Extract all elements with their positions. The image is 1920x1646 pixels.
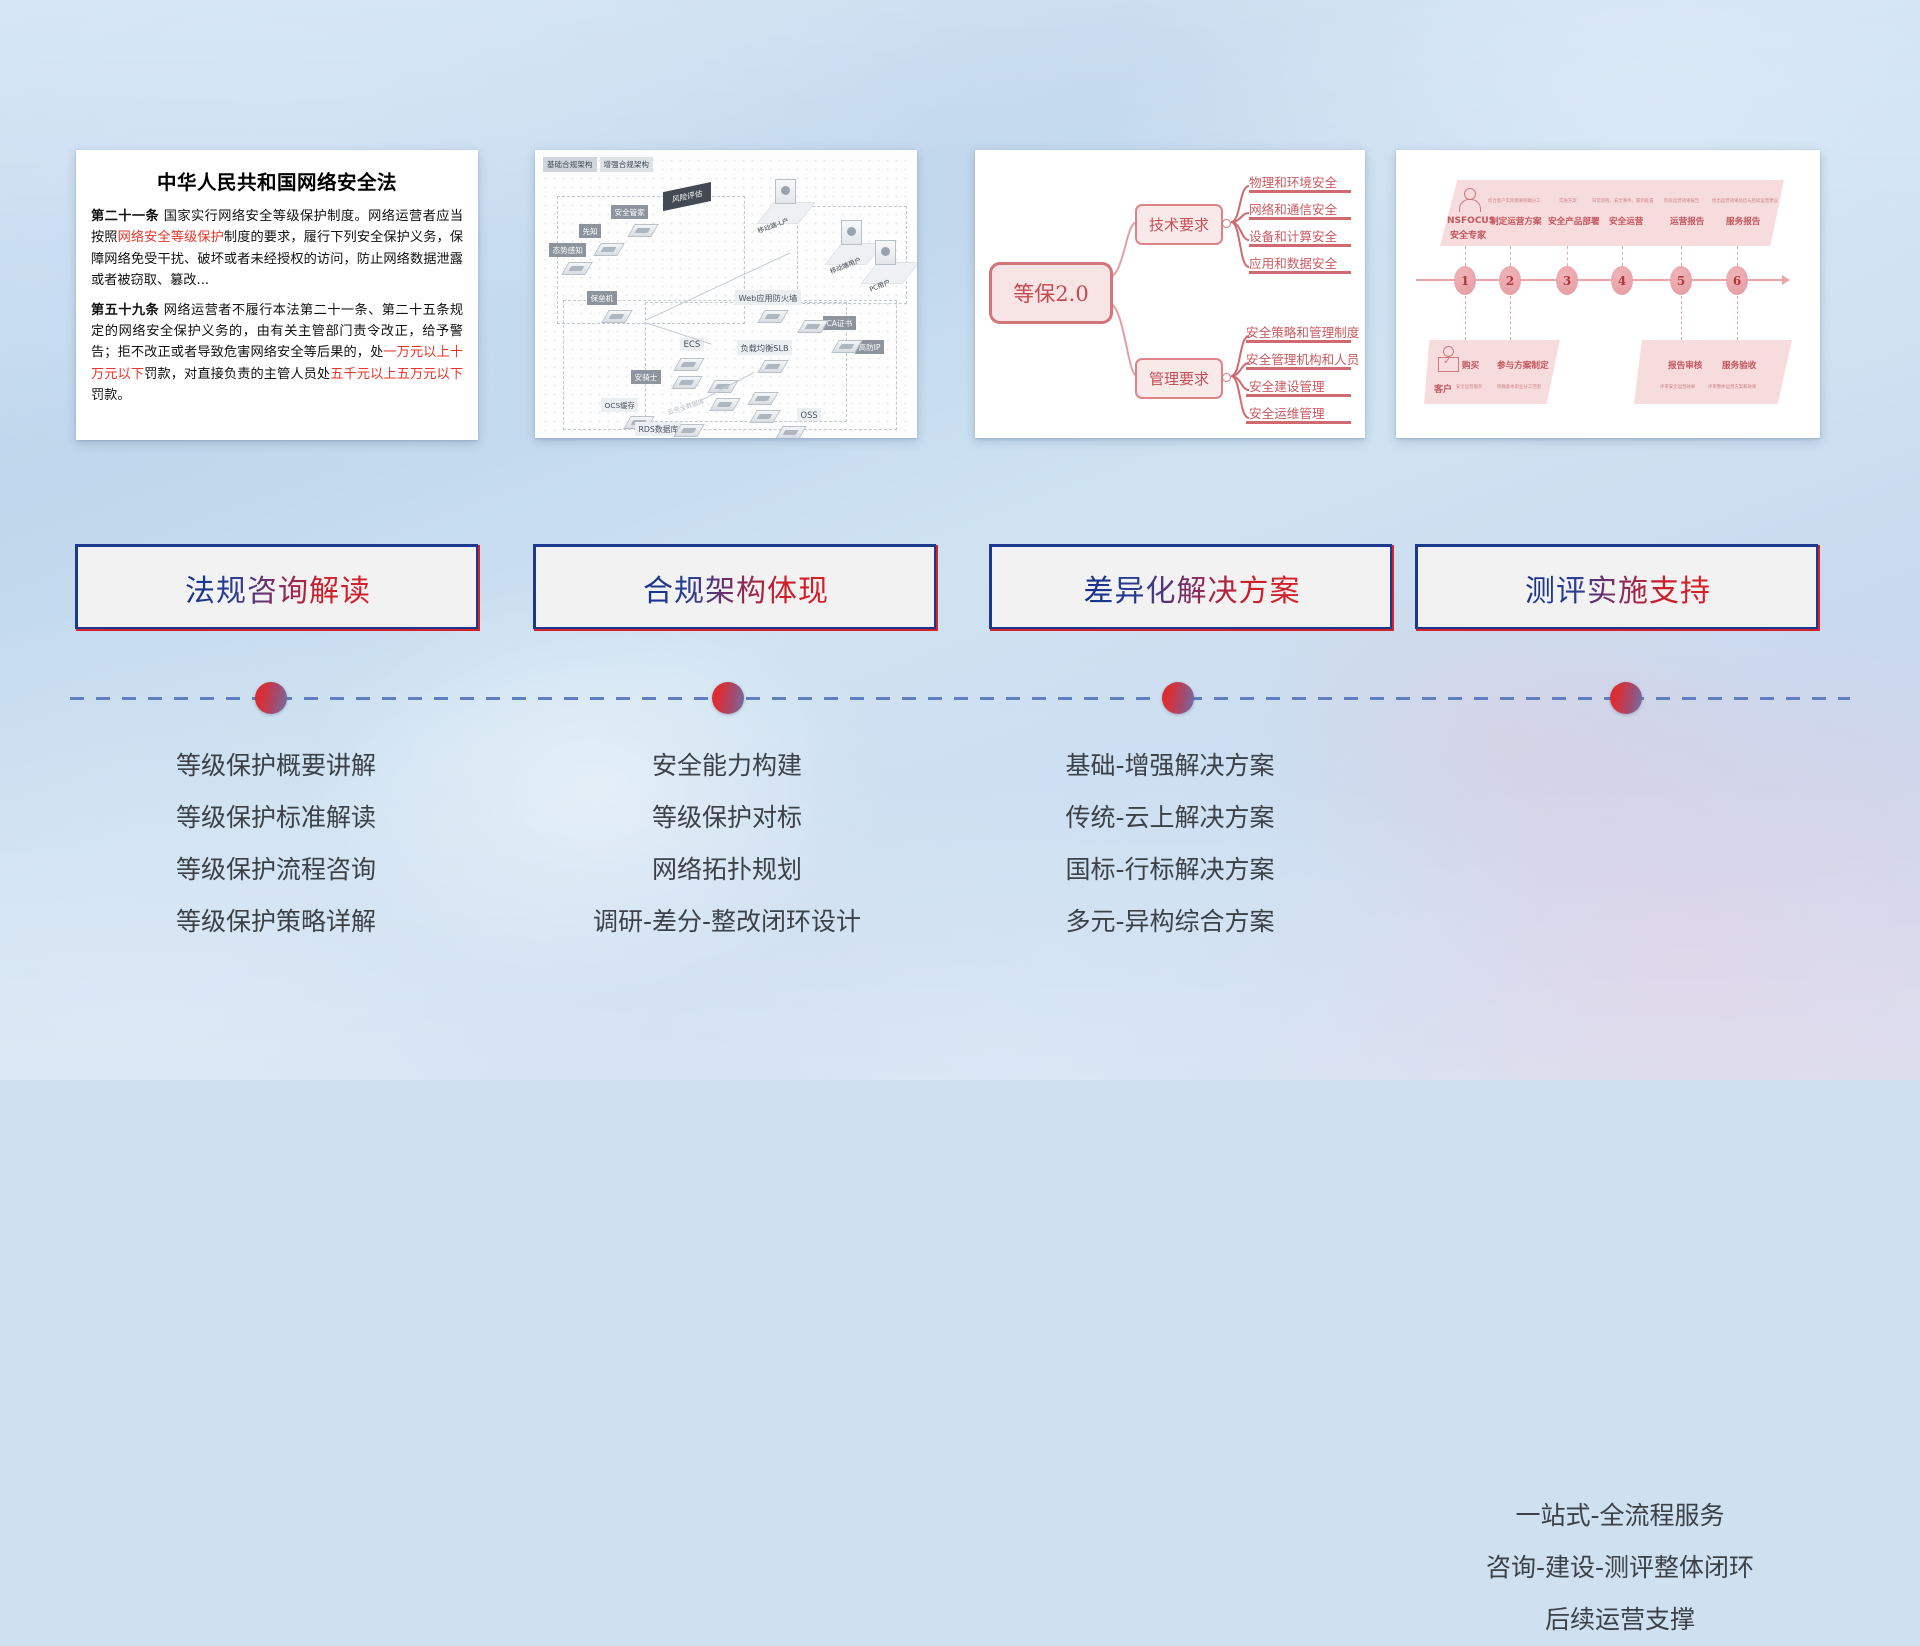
node-security-guanjia-icon xyxy=(631,220,653,236)
roadmap-expert-role: 安全专家 xyxy=(1450,228,1486,241)
roadmap-bottom-title-3: 报告审核 xyxy=(1668,359,1702,371)
pill-label-1: 法规咨询解读 xyxy=(185,566,371,610)
roadmap-diagram: NSFOCUS 安全专家 结合客户实际需要明确分工 制定运营方案 实施方案 安全… xyxy=(1396,150,1820,438)
pill-button-differentiated-solution[interactable]: 差异化解决方案 xyxy=(990,545,1394,631)
feature-column-3: 基础-增强解决方案 传统-云上解决方案 国标-行标解决方案 多元-异构综合方案 xyxy=(960,740,1380,948)
mindmap-underline-m1 xyxy=(1246,340,1351,343)
feature-item: 基础-增强解决方案 xyxy=(960,740,1380,792)
mindmap-branch-technical[interactable]: 技术要求 xyxy=(1135,204,1223,245)
roadmap-tick-b1 xyxy=(1465,296,1467,340)
mindmap-underline-t2 xyxy=(1249,217,1351,220)
roadmap-top-sub-3: 日常巡检、安全事件、漏洞处置 xyxy=(1592,198,1653,204)
nsfocus-person-icon xyxy=(1456,188,1482,214)
roadmap-tick-b4 xyxy=(1737,296,1739,340)
feature-item: 调研-差分-整改闭环设计 xyxy=(512,896,942,948)
roadmap-tick-b3 xyxy=(1681,296,1683,340)
mindmap-underline-t4 xyxy=(1249,271,1351,274)
law-document: 中华人民共和国网络安全法 第二十一条 国家实行网络安全等级保护制度。网络运营者应… xyxy=(76,150,478,440)
mindmap-branch-technical-dot-icon xyxy=(1222,219,1231,228)
mindmap-underline-m4 xyxy=(1246,421,1351,424)
roadmap-top-title-5: 服务报告 xyxy=(1726,215,1760,227)
feature-column-1: 等级保护概要讲解 等级保护标准解读 等级保护流程咨询 等级保护策略详解 xyxy=(66,740,486,948)
law-article-21-label: 第二十一条 xyxy=(91,209,159,224)
pill-button-assessment-support[interactable]: 测评实施支持 xyxy=(1416,545,1820,631)
roadmap-expert-brand: NSFOCUS xyxy=(1447,216,1495,226)
node-bastion-icon xyxy=(605,306,627,322)
node-mobile-client-icon xyxy=(775,179,796,204)
pill-label-3: 差异化解决方案 xyxy=(1084,566,1301,610)
roadmap-tick-3 xyxy=(1567,246,1569,266)
label-ocs-cache: OCS缓存 xyxy=(601,398,638,412)
node-instance-c-icon xyxy=(751,388,773,404)
roadmap-bottom-sub-4: 评审整体运营方案和效果 xyxy=(1708,384,1756,390)
pill-button-row: 法规咨询解读 合规架构体现 差异化解决方案 测评实施支持 xyxy=(0,545,1920,635)
feature-item: 网络拓扑规划 xyxy=(512,844,942,896)
roadmap-top-sub-5: 给出运营效果总结与后续运营建议 xyxy=(1712,198,1778,204)
roadmap-step-number-2: 2 xyxy=(1499,266,1521,295)
card-mindmap-dengbao[interactable]: 等保2.0 技术要求 物理和环境安全 网络和通信安全 设备和计算安全 应用和数据… xyxy=(975,150,1365,438)
roadmap-tick-5 xyxy=(1681,246,1683,266)
mindmap-leaf-t1: 物理和环境安全 xyxy=(1249,172,1337,191)
label-ca-certificate: CA证书 xyxy=(823,316,856,330)
label-bastion-host: 保垒机 xyxy=(587,291,617,305)
timeline-dot-4[interactable] xyxy=(1610,682,1642,714)
timeline-dashed-line xyxy=(70,697,1850,700)
feature-item: 多元-异构综合方案 xyxy=(960,896,1380,948)
law-title: 中华人民共和国网络安全法 xyxy=(91,166,463,195)
node-oss-icon xyxy=(779,422,801,438)
customer-person-icon xyxy=(1436,346,1460,376)
roadmap-top-sub-4: 阶段运营效果报告 xyxy=(1664,198,1699,204)
roadmap-top-sub-1: 结合客户实际需要明确分工 xyxy=(1488,198,1541,204)
law-article-59-highlight-2: 五千元以上五万元以下 xyxy=(330,367,463,382)
roadmap-step-number-3: 3 xyxy=(1556,266,1578,295)
law-article-59-mid: 罚款，对直接负责的主管人员处 xyxy=(144,367,330,382)
feature-item: 传统-云上解决方案 xyxy=(960,792,1380,844)
node-anti-ddos-icon xyxy=(835,336,857,352)
node-rds-icon xyxy=(677,420,699,436)
mindmap-branch-management[interactable]: 管理要求 xyxy=(1135,358,1223,399)
roadmap-bottom-sub-3: 评审安全运营效果 xyxy=(1660,384,1695,390)
tab-enhanced-compliance[interactable]: 增强合规架构 xyxy=(600,157,654,172)
feature-column-2: 安全能力构建 等级保护对标 网络拓扑规划 调研-差分-整改闭环设计 xyxy=(512,740,942,948)
pill-label-2: 合规架构体现 xyxy=(643,566,829,610)
pill-button-compliance-architecture[interactable]: 合规架构体现 xyxy=(534,545,938,631)
architecture-diagram: 基础合规架构 增强合规架构 风险评估 安全管家 先知 态势感知 保垒机 移动端-… xyxy=(535,150,917,438)
roadmap-top-sub-2: 实施方案 xyxy=(1559,198,1577,204)
feature-item: 安全能力构建 xyxy=(512,740,942,792)
roadmap-tick-2 xyxy=(1510,246,1512,266)
roadmap-step-number-6: 6 xyxy=(1726,266,1748,295)
roadmap-band-customer-right xyxy=(1634,340,1792,404)
roadmap-top-title-2: 安全产品部署 xyxy=(1548,215,1600,227)
mindmap-underline-m2 xyxy=(1246,367,1351,370)
feature-item: 等级保护策略详解 xyxy=(66,896,486,948)
roadmap-step-number-5: 5 xyxy=(1670,266,1692,295)
mindmap-underline-t3 xyxy=(1249,244,1351,247)
feature-item: 咨询-建设-测评整体闭环 xyxy=(1400,1542,1840,1594)
roadmap-bottom-sub-1: 安全运营服务 xyxy=(1456,384,1482,390)
card-service-roadmap[interactable]: NSFOCUS 安全专家 结合客户实际需要明确分工 制定运营方案 实施方案 安全… xyxy=(1396,150,1820,438)
timeline-dot-2[interactable] xyxy=(712,682,744,714)
mindmap-branch-management-dot-icon xyxy=(1222,373,1231,382)
architecture-tabs: 基础合规架构 增强合规架构 xyxy=(543,157,653,172)
feature-column-4: 一站式-全流程服务 咨询-建设-测评整体闭环 后续运营支撑 xyxy=(1400,1490,1840,1646)
timeline-dot-3[interactable] xyxy=(1162,682,1194,714)
node-situation-icon xyxy=(565,258,587,274)
label-oss: OSS xyxy=(797,408,821,421)
mindmap-leaf-m4: 安全运维管理 xyxy=(1249,403,1325,422)
roadmap-step-number-1: 1 xyxy=(1454,266,1476,295)
node-ca-icon xyxy=(801,316,823,332)
roadmap-tick-b2 xyxy=(1510,296,1512,340)
node-instance-b-icon xyxy=(713,394,735,410)
law-article-21-highlight: 网络安全等级保护 xyxy=(118,230,224,245)
card-cloud-architecture[interactable]: 基础合规架构 增强合规架构 风险评估 安全管家 先知 态势感知 保垒机 移动端-… xyxy=(535,150,917,438)
node-mobile-client2-icon xyxy=(841,220,862,245)
roadmap-bottom-title-2: 参与方案制定 xyxy=(1497,359,1549,371)
timeline-dot-1[interactable] xyxy=(255,682,287,714)
feature-columns: 等级保护概要讲解 等级保护标准解读 等级保护流程咨询 等级保护策略详解 安全能力… xyxy=(0,740,1920,960)
label-anqishi: 安骑士 xyxy=(631,370,661,384)
node-waf-icon xyxy=(761,306,783,322)
roadmap-step-number-4: 4 xyxy=(1611,266,1633,295)
roadmap-tick-1 xyxy=(1465,246,1467,266)
pill-label-4: 测评实施支持 xyxy=(1525,566,1711,610)
roadmap-bottom-title-4: 服务验收 xyxy=(1722,359,1756,371)
mindmap-leaf-t2: 网络和通信安全 xyxy=(1249,199,1337,218)
roadmap-top-title-4: 运营报告 xyxy=(1670,215,1704,227)
mindmap-leaf-m1: 安全策略和管理制度 xyxy=(1246,322,1359,341)
label-situation-awareness: 态势感知 xyxy=(549,243,586,257)
law-article-59-post: 罚款。 xyxy=(91,388,131,403)
mindmap-underline-m3 xyxy=(1246,394,1351,397)
roadmap-bottom-title-1: 购买 xyxy=(1462,359,1479,371)
feature-item: 等级保护流程咨询 xyxy=(66,844,486,896)
roadmap-top-title-1: 制定运营方案 xyxy=(1490,215,1542,227)
law-article-59-label: 第五十九条 xyxy=(91,303,159,318)
mindmap-root-node[interactable]: 等保2.0 xyxy=(989,262,1113,324)
node-xianzhi-icon xyxy=(597,239,619,255)
node-pc-client-icon xyxy=(875,240,896,265)
tab-base-compliance[interactable]: 基础合规架构 xyxy=(543,157,597,172)
cards-row: 中华人民共和国网络安全法 第二十一条 国家实行网络安全等级保护制度。网络运营者应… xyxy=(0,150,1920,450)
roadmap-top-title-3: 安全运营 xyxy=(1609,215,1643,227)
feature-item: 等级保护对标 xyxy=(512,792,942,844)
mindmap-leaf-t3: 设备和计算安全 xyxy=(1249,226,1337,245)
roadmap-bottom-sub-2: 明确基本职业分工范围 xyxy=(1497,384,1541,390)
mindmap-underline-t1 xyxy=(1249,190,1351,193)
label-slb: 负载均衡SLB xyxy=(737,340,792,355)
feature-item: 国标-行标解决方案 xyxy=(960,844,1380,896)
feature-item: 等级保护标准解读 xyxy=(66,792,486,844)
feature-item: 一站式-全流程服务 xyxy=(1400,1490,1840,1542)
node-instance-d-icon xyxy=(753,406,775,422)
mindmap: 等保2.0 技术要求 物理和环境安全 网络和通信安全 设备和计算安全 应用和数据… xyxy=(975,150,1365,438)
mindmap-leaf-t4: 应用和数据安全 xyxy=(1249,253,1337,272)
roadmap-tick-6 xyxy=(1737,246,1739,266)
roadmap-band-provider xyxy=(1440,180,1784,246)
label-security-guanjia: 安全管家 xyxy=(611,205,648,219)
node-slb-icon xyxy=(761,356,783,372)
feature-item: 后续运营支撑 xyxy=(1400,1594,1840,1646)
roadmap-customer-role: 客户 xyxy=(1434,382,1452,395)
law-article-59: 第五十九条 网络运营者不履行本法第二十一条、第二十五条规定的网络安全保护义务的，… xyxy=(91,300,463,407)
pill-button-regulation-consulting[interactable]: 法规咨询解读 xyxy=(76,545,480,631)
card-law-text[interactable]: 中华人民共和国网络安全法 第二十一条 国家实行网络安全等级保护制度。网络运营者应… xyxy=(76,150,478,440)
feature-item: 等级保护概要讲解 xyxy=(66,740,486,792)
mindmap-leaf-m2: 安全管理机构和人员 xyxy=(1246,349,1359,368)
label-xianzhi: 先知 xyxy=(579,224,601,238)
roadmap-tick-4 xyxy=(1622,246,1624,266)
label-waf: Web应用防火墙 xyxy=(735,290,801,305)
node-ecs-icon xyxy=(677,354,699,370)
node-anqishi-icon xyxy=(675,372,697,388)
law-article-21: 第二十一条 国家实行网络安全等级保护制度。网络运营者应当按照网络安全等级保护制度… xyxy=(91,206,463,292)
roadmap-axis-arrow-icon xyxy=(1782,275,1790,285)
mindmap-leaf-m3: 安全建设管理 xyxy=(1249,376,1325,395)
